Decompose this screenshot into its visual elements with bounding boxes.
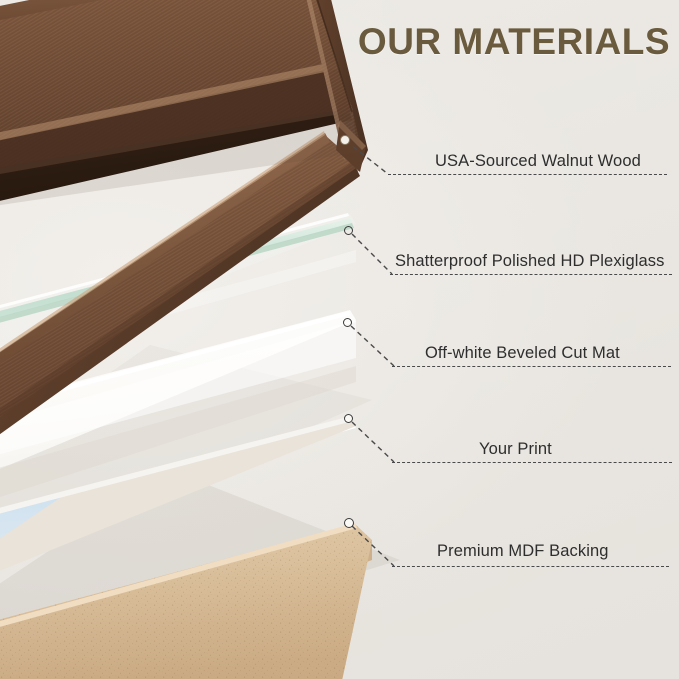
callout-dot-mdf [344,518,354,528]
callout-baseline-mdf [392,566,669,567]
callout-dot-print [344,414,353,423]
callout-dot-mat [343,318,352,327]
callout-label-mdf: Premium MDF Backing [437,542,609,561]
callout-label-plexiglass: Shatterproof Polished HD Plexiglass [395,252,664,271]
callout-baseline-print [392,462,672,463]
page-title: OUR MATERIALS [358,21,670,63]
callout-dot-walnut-wood [340,135,350,145]
callout-dot-plexiglass [344,226,353,235]
callout-label-print: Your Print [479,440,552,459]
infographic-canvas: OUR MATERIALS USA-Sourced Walnut Wood Sh… [0,0,679,679]
callout-baseline-plexiglass [390,274,672,275]
callout-baseline-walnut-wood [388,174,667,175]
callout-baseline-mat [392,366,671,367]
callout-label-mat: Off-white Beveled Cut Mat [425,344,620,363]
callout-label-walnut-wood: USA-Sourced Walnut Wood [435,152,641,171]
